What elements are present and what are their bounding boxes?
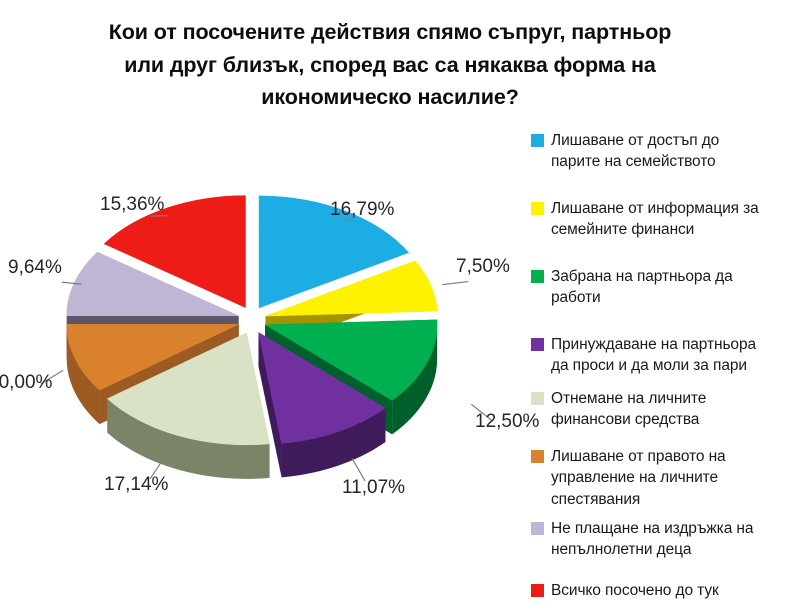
legend-label-line: да проси и да моли за пари [551,355,756,376]
chart-legend: Лишаване от достъп допарите на семейство… [531,130,800,600]
pie-chart-plot-area: 16,79%7,50%12,50%11,07%17,14%10,00%9,64%… [0,120,535,520]
legend-item[interactable]: Отнемане на личнитефинансови средства [531,388,800,431]
legend-swatch-icon [531,450,544,463]
legend-item-label: Лишаване от правото науправление на личн… [551,446,726,510]
legend-swatch-icon [531,392,544,405]
pie-data-label: 10,00% [0,373,52,392]
legend-swatch-icon [531,522,544,535]
pie-data-label: 16,79% [330,200,394,219]
legend-swatch-icon [531,202,544,215]
legend-label-line: Лишаване от информация за [551,198,759,219]
legend-label-line: Не плащане на издръжка на [551,518,753,539]
legend-label-line: Принуждаване на партньора [551,334,756,355]
pie-data-label: 9,64% [8,258,62,277]
title-line-2: или друг близък, според вас са някаква ф… [40,49,740,82]
legend-label-line: Лишаване от достъп до [551,130,719,151]
pie-chart-slide: Кои от посочените действия спямо съпруг,… [0,0,800,613]
legend-label-line: Отнемане на личните [551,388,706,409]
legend-item-label: Принуждаване на партньорада проси и да м… [551,334,756,377]
legend-label-line: парите на семейството [551,151,719,172]
title-line-3: икономическо насилие? [40,81,740,114]
legend-item[interactable]: Принуждаване на партньорада проси и да м… [531,334,800,377]
legend-label-line: непълнолетни деца [551,539,753,560]
pie-label-leader [151,215,168,216]
legend-label-line: Забрана на партньора да [551,266,733,287]
legend-item[interactable]: Лишаване от достъп допарите на семейство… [531,130,800,173]
pie-data-label: 17,14% [104,475,168,494]
legend-item[interactable]: Лишаване от информация засемейните финан… [531,198,800,241]
pie-data-label: 12,50% [475,412,539,431]
legend-item-label: Лишаване от достъп допарите на семейство… [551,130,719,173]
pie-data-label: 7,50% [456,257,510,276]
legend-swatch-icon [531,584,544,597]
legend-label-line: Всичко посочено до тук [551,580,719,601]
legend-swatch-icon [531,270,544,283]
legend-item-label: Забрана на партньора даработи [551,266,733,309]
legend-label-line: финансови средства [551,409,706,430]
legend-item[interactable]: Всичко посочено до тук [531,580,800,601]
legend-swatch-icon [531,134,544,147]
legend-item[interactable]: Забрана на партньора даработи [531,266,800,309]
pie-label-leader [442,282,468,285]
legend-item-label: Всичко посочено до тук [551,580,719,601]
title-line-1: Кои от посочените действия спямо съпруг,… [40,16,740,49]
legend-label-line: Лишаване от правото на [551,446,726,467]
legend-item[interactable]: Лишаване от правото науправление на личн… [531,446,800,510]
legend-item-label: Лишаване от информация засемейните финан… [551,198,759,241]
pie-chart-svg [0,120,535,520]
legend-label-line: спестявания [551,489,726,510]
page-title: Кои от посочените действия спямо съпруг,… [40,16,740,114]
legend-item[interactable]: Не плащане на издръжка нанепълнолетни де… [531,518,800,561]
pie-data-label: 15,36% [100,195,164,214]
legend-label-line: семейните финанси [551,219,759,240]
pie-data-label: 11,07% [342,478,405,497]
legend-item-label: Не плащане на издръжка нанепълнолетни де… [551,518,753,561]
legend-item-label: Отнемане на личнитефинансови средства [551,388,706,431]
legend-label-line: работи [551,287,733,308]
legend-swatch-icon [531,338,544,351]
legend-label-line: управление на личните [551,467,726,488]
